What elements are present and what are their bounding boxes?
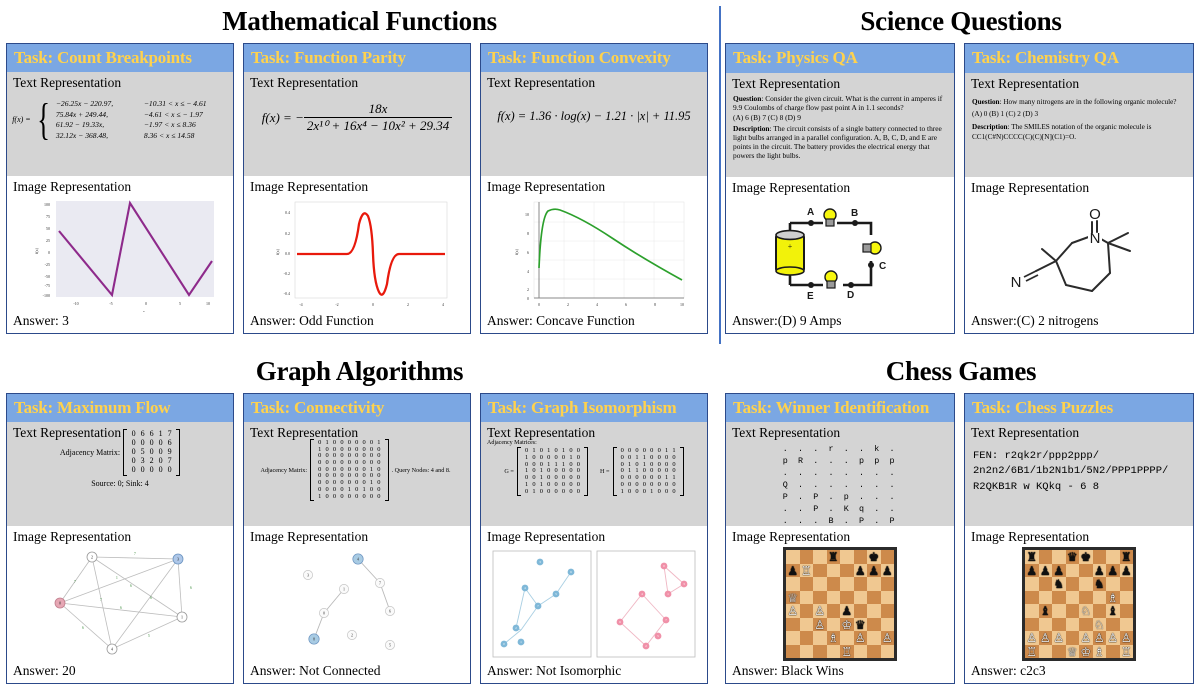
chess-piece: ♛	[1067, 551, 1078, 563]
svg-text:100: 100	[44, 202, 50, 207]
chess-square[interactable]: ♙	[813, 618, 827, 632]
chess-square[interactable]: ♟	[1052, 564, 1066, 578]
left-brace-icon: {	[37, 103, 50, 136]
chess-piece: ♔	[1080, 646, 1091, 658]
chess-piece: ♙	[1121, 632, 1132, 644]
chess-square[interactable]: ♙	[1039, 631, 1053, 645]
board-ascii-text: . . . r . . k . p R . . . p p p . . . . …	[726, 443, 954, 526]
chess-square[interactable]: ♛	[1066, 550, 1080, 564]
chess-square[interactable]	[840, 577, 854, 591]
svg-text:6: 6	[190, 586, 192, 590]
svg-text:-0.4: -0.4	[283, 291, 289, 296]
chess-piece: ♟	[787, 565, 798, 577]
card-maximum-flow[interactable]: Task: Maximum Flow Text Representation A…	[6, 393, 234, 684]
chess-square[interactable]: ♕	[786, 591, 800, 605]
chess-square[interactable]	[813, 631, 827, 645]
svg-text:0: 0	[59, 601, 61, 606]
card-winner-identification[interactable]: Task: Winner Identification Text Represe…	[725, 393, 955, 684]
image-representation-label: Image Representation	[244, 526, 470, 547]
matrix-cell: 0	[641, 489, 648, 496]
matrix-cell: 0	[138, 466, 147, 475]
chess-square[interactable]	[881, 577, 895, 591]
chess-square[interactable]: ♜	[1120, 550, 1134, 564]
svg-text:10: 10	[525, 212, 529, 217]
chess-square[interactable]: ♚	[867, 550, 881, 564]
matrix-cell: 0	[338, 494, 345, 501]
chess-square[interactable]: ♗	[827, 631, 841, 645]
chess-square[interactable]	[827, 604, 841, 618]
chess-square[interactable]	[786, 577, 800, 591]
connectivity-graph: 431 760 825	[244, 547, 470, 662]
chess-piece: ♙	[1040, 632, 1051, 644]
poster-grid: Mathematical Functions Task: Count Break…	[0, 0, 1203, 699]
chess-square[interactable]	[1106, 577, 1120, 591]
chess-piece: ♟	[1121, 565, 1132, 577]
svg-text:+: +	[788, 242, 793, 251]
chess-square[interactable]: ♙	[881, 631, 895, 645]
chess-square[interactable]: ♙	[1025, 631, 1039, 645]
chess-square[interactable]	[1052, 550, 1066, 564]
chess-square[interactable]	[1120, 577, 1134, 591]
chess-square[interactable]	[1106, 550, 1120, 564]
answer-text: Answer:(C) 2 nitrogens	[965, 312, 1193, 333]
card-count-breakpoints[interactable]: Task: Count Breakpoints Text Representat…	[6, 43, 234, 334]
section-graph-algorithms: Graph Algorithms Task: Maximum Flow Text…	[0, 350, 719, 699]
matrix-h-block: H = 000000110011000001010000011000000000…	[600, 447, 684, 496]
chess-square[interactable]	[1120, 618, 1134, 632]
svg-text:8: 8	[527, 231, 529, 236]
chess-square[interactable]: ♟	[854, 564, 868, 578]
matrix-cell: 0	[560, 489, 567, 496]
chess-square[interactable]	[1120, 591, 1134, 605]
chess-square[interactable]: ♙	[786, 604, 800, 618]
card-graph-isomorphism[interactable]: Task: Graph Isomorphism Text Representat…	[480, 393, 708, 684]
svg-text:6: 6	[82, 626, 84, 630]
image-representation-label: Image Representation	[7, 526, 233, 547]
section-mathematical-functions: Mathematical Functions Task: Count Break…	[0, 0, 719, 350]
chess-square[interactable]: ♗	[1093, 645, 1107, 659]
chess-square[interactable]	[1066, 618, 1080, 632]
chess-square[interactable]: ♜	[1025, 550, 1039, 564]
chess-square[interactable]	[840, 591, 854, 605]
text-representation-panel: Text Representation f(x) = − 18x 2x¹⁰ + …	[244, 72, 470, 176]
chess-square[interactable]	[867, 631, 881, 645]
svg-text:-5: -5	[109, 301, 112, 306]
chessboard-puzzle: ♜♛♚♜♟♟♟♟♟♟♞♞♗♝♘♝♘♙♙♙♙♙♙♙♖♕♔♗♖	[965, 547, 1193, 661]
chess-square[interactable]	[881, 550, 895, 564]
chess-square[interactable]	[1052, 618, 1066, 632]
svg-text:-4: -4	[299, 302, 302, 307]
chess-piece: ♖	[1121, 646, 1132, 658]
svg-text:6: 6	[527, 250, 529, 255]
chess-square[interactable]: ♟	[1039, 564, 1053, 578]
svg-text:2: 2	[527, 287, 529, 292]
matrix-cell: 0	[147, 466, 156, 475]
matrix-cell: 0	[353, 494, 360, 501]
answer-text: Answer: Not Connected	[244, 662, 470, 683]
molecule-diagram: O N N N	[965, 198, 1193, 312]
chess-square[interactable]: ♔	[840, 618, 854, 632]
chess-square[interactable]: ♙	[813, 604, 827, 618]
fen-text: FEN: r2qk2r/ppp2ppp/ 2n2n2/6B1/1b2N1b1/5…	[965, 443, 1193, 495]
svg-text:N: N	[1090, 230, 1101, 247]
chess-piece: ♗	[1094, 646, 1105, 658]
chess-square[interactable]: ♔	[1079, 645, 1093, 659]
chess-square[interactable]	[800, 618, 814, 632]
chess-square[interactable]: ♖	[800, 564, 814, 578]
chess-square[interactable]	[881, 618, 895, 632]
chess-square[interactable]	[786, 618, 800, 632]
chess-square[interactable]	[800, 645, 814, 659]
svg-text:0.4: 0.4	[285, 210, 290, 215]
circuit-label-e: E	[807, 291, 814, 302]
matrix-cell: 1	[648, 489, 655, 496]
text-representation-label: Text Representation	[726, 73, 954, 94]
chess-square[interactable]	[786, 631, 800, 645]
chart-parity: 0.4 0.2 0.0 -0.2 -0.4 -4 -2 0 2 4 f(x)	[244, 197, 470, 312]
qa-body: Question: Consider the given circuit. Wh…	[726, 94, 954, 160]
image-representation-panel: Image Representation	[965, 177, 1193, 333]
chess-piece: ♙	[1026, 632, 1037, 644]
circuit-label-c: C	[879, 261, 886, 272]
chess-piece: ♟	[1053, 565, 1064, 577]
chess-square[interactable]: ♙	[1052, 631, 1066, 645]
svg-text:4: 4	[596, 302, 598, 307]
card-function-convexity[interactable]: Task: Function Convexity Text Representa…	[480, 43, 708, 334]
chess-square[interactable]	[1039, 550, 1053, 564]
chess-piece: ♛	[855, 619, 866, 631]
svg-text:7: 7	[379, 581, 381, 586]
chess-square[interactable]	[786, 550, 800, 564]
piecewise-row: 75.84x + 249.44, −4.61 < x ≤ − 1.97	[56, 110, 228, 119]
chess-piece: ♙	[814, 619, 825, 631]
chess-square[interactable]: ♙	[1106, 631, 1120, 645]
chess-square[interactable]	[1025, 591, 1039, 605]
image-representation-panel: Image Representation	[726, 177, 954, 333]
chess-piece: ♟	[855, 565, 866, 577]
matrix-cell: 1	[530, 489, 537, 496]
matrix-cell: 1	[619, 489, 626, 496]
chess-piece: ♕	[1067, 646, 1078, 658]
answer-options: (A) 6 (B) 7 (C) 8 (D) 9	[733, 113, 947, 122]
svg-text:2: 2	[91, 555, 93, 560]
chess-square[interactable]	[1025, 618, 1039, 632]
chess-square[interactable]	[840, 631, 854, 645]
question-line: Question: Consider the given circuit. Wh…	[733, 94, 947, 112]
chess-square[interactable]: ♙	[854, 631, 868, 645]
section-title: Chess Games	[725, 356, 1197, 387]
svg-text:6: 6	[120, 606, 122, 610]
svg-text:75: 75	[46, 214, 50, 219]
chess-square[interactable]	[867, 591, 881, 605]
chess-square[interactable]	[1039, 645, 1053, 659]
matrix-cell: 0	[360, 494, 367, 501]
chess-square[interactable]: ♝	[1106, 604, 1120, 618]
chess-square[interactable]	[1079, 618, 1093, 632]
chess-square[interactable]: ♟	[867, 564, 881, 578]
chess-square[interactable]: ♝	[1039, 604, 1053, 618]
image-representation-label: Image Representation	[726, 526, 954, 547]
chess-square[interactable]	[813, 550, 827, 564]
chess-piece: ♟	[1040, 565, 1051, 577]
chess-piece: ♟	[1107, 565, 1118, 577]
chess-square[interactable]	[1093, 550, 1107, 564]
chess-piece: ♙	[882, 632, 893, 644]
chess-square[interactable]: ♗	[1106, 591, 1120, 605]
chess-square[interactable]	[1039, 618, 1053, 632]
chess-square[interactable]	[854, 577, 868, 591]
chess-square[interactable]	[1052, 645, 1066, 659]
chessboard: ♜♛♚♜♟♟♟♟♟♟♞♞♗♝♘♝♘♙♙♙♙♙♙♙♖♕♔♗♖	[1022, 547, 1136, 661]
chess-square[interactable]: ♖	[1025, 645, 1039, 659]
chess-square[interactable]	[1025, 604, 1039, 618]
svg-text:7: 7	[100, 598, 102, 602]
card-physics-qa[interactable]: Task: Physics QA Text Representation Que…	[725, 43, 955, 334]
matrix-cell: 0	[633, 489, 640, 496]
piecewise-formula: f(x) = { −26.25x − 220.97, −10.31 < x ≤ …	[7, 99, 233, 140]
chess-square[interactable]	[1120, 604, 1134, 618]
question-label: Question	[733, 94, 761, 103]
chess-square[interactable]	[800, 591, 814, 605]
chess-square[interactable]	[1079, 564, 1093, 578]
svg-text:8: 8	[654, 302, 656, 307]
card-connectivity[interactable]: Task: Connectivity Text Representation A…	[243, 393, 471, 684]
chess-piece: ♟	[841, 605, 852, 617]
matrix-row: 100000000	[316, 494, 383, 501]
circuit-diagram: + _	[726, 198, 954, 312]
plain-formula: f(x) = 1.36 · log(x) − 1.21 · |x| + 11.9…	[481, 109, 707, 124]
matrix-cell: 0	[552, 489, 559, 496]
card-chemistry-qa[interactable]: Task: Chemistry QA Text Representation Q…	[964, 43, 1194, 334]
chess-square[interactable]: ♕	[1066, 645, 1080, 659]
chessboard: ♜♚♟♖♟♟♟♕♙♙♟♙♔♛♗♙♙♖	[783, 547, 897, 661]
chess-square[interactable]	[1079, 577, 1093, 591]
chess-square[interactable]	[1066, 564, 1080, 578]
answer-text: Answer: c2c3	[965, 662, 1193, 683]
svg-text:-10: -10	[73, 301, 78, 306]
adjacency-matrix: 0661700006050090320700000	[123, 429, 180, 476]
image-representation-label: Image Representation	[481, 176, 707, 197]
matrix-cell: 0	[626, 489, 633, 496]
chess-square[interactable]: ♘	[1079, 604, 1093, 618]
chess-square[interactable]	[854, 604, 868, 618]
chess-square[interactable]	[1093, 591, 1107, 605]
svg-text:6: 6	[150, 596, 152, 600]
chess-square[interactable]: ♙	[1079, 631, 1093, 645]
chess-square[interactable]: ♟	[1025, 564, 1039, 578]
chess-piece: ♖	[1026, 646, 1037, 658]
chess-square[interactable]: ♟	[786, 564, 800, 578]
card-title: Task: Function Parity	[244, 44, 470, 72]
chess-square[interactable]	[827, 618, 841, 632]
chess-square[interactable]: ♞	[1093, 577, 1107, 591]
chess-square[interactable]	[867, 577, 881, 591]
chess-square[interactable]	[1066, 631, 1080, 645]
answer-text: Answer: Not Isomorphic	[481, 662, 707, 683]
svg-text:4: 4	[527, 269, 529, 274]
chess-square[interactable]	[800, 631, 814, 645]
matrix-cell: 0	[538, 489, 545, 496]
svg-text:8: 8	[313, 637, 315, 642]
convexity-line-chart: 10 8 6 4 2 0 0 2 4 6 8 10 f(x)	[492, 197, 697, 312]
card-chess-puzzles[interactable]: Task: Chess Puzzles Text Representation …	[964, 393, 1194, 684]
matrix-g-block: G = 010101001000001000011100101000000010…	[504, 447, 588, 496]
chess-square[interactable]	[813, 645, 827, 659]
text-representation-panel: Text Representation FEN: r2qk2r/ppp2ppp/…	[965, 422, 1193, 526]
source-sink-text: Source: 0; Sink: 4	[7, 479, 233, 488]
chess-square[interactable]: ♜	[827, 550, 841, 564]
chess-square[interactable]: ♘	[1093, 618, 1107, 632]
chess-square[interactable]	[1052, 591, 1066, 605]
chess-square[interactable]	[881, 604, 895, 618]
chess-square[interactable]	[800, 604, 814, 618]
svg-text:0: 0	[538, 302, 540, 307]
answer-text: Answer: Concave Function	[481, 312, 707, 333]
section-chess-games: Chess Games Task: Winner Identification …	[719, 350, 1203, 699]
matrix-h-label: H =	[600, 468, 610, 475]
chess-piece: ♕	[787, 592, 798, 604]
text-representation-label: Text Representation	[244, 72, 470, 93]
chess-square[interactable]	[854, 645, 868, 659]
chess-piece: ♜	[828, 551, 839, 563]
chess-square[interactable]	[1039, 577, 1053, 591]
chess-piece: ♔	[841, 619, 852, 631]
text-representation-panel: Text Representation f(x) = { −26.25x − 2…	[7, 72, 233, 176]
answer-text: Answer: Black Wins	[726, 662, 954, 683]
formula-lhs: f(x) =	[12, 115, 31, 124]
matrix-cell: 0	[670, 489, 677, 496]
matrix-cell: 0	[523, 489, 530, 496]
atom-label-o: O	[1089, 206, 1101, 223]
chess-square[interactable]	[1106, 618, 1120, 632]
chess-piece: ♟	[868, 565, 879, 577]
chess-square[interactable]: ♟	[1093, 564, 1107, 578]
chess-square[interactable]	[881, 591, 895, 605]
chess-square[interactable]	[1066, 591, 1080, 605]
chess-square[interactable]	[827, 645, 841, 659]
isomorphism-graphs: 365 472 10	[481, 547, 707, 661]
card-title: Task: Winner Identification	[726, 394, 954, 423]
chess-square[interactable]	[786, 645, 800, 659]
chess-square[interactable]	[1039, 591, 1053, 605]
text-representation-label: Text Representation	[481, 72, 707, 93]
card-function-parity[interactable]: Task: Function Parity Text Representatio…	[243, 43, 471, 334]
chess-square[interactable]: ♖	[1120, 645, 1134, 659]
chess-square[interactable]: ♛	[854, 618, 868, 632]
chess-square[interactable]	[800, 550, 814, 564]
chess-square[interactable]: ♙	[1093, 631, 1107, 645]
flow-graph: 776 761 666 5	[7, 547, 233, 662]
chess-square[interactable]: ♟	[840, 604, 854, 618]
svg-text:2: 2	[351, 633, 353, 638]
matrix-cell: 0	[129, 466, 138, 475]
chess-piece: ♚	[868, 551, 879, 563]
chess-square[interactable]	[867, 618, 881, 632]
chess-piece: ♞	[1053, 578, 1064, 590]
chess-square[interactable]	[1106, 645, 1120, 659]
svg-text:1: 1	[181, 615, 183, 620]
chess-square[interactable]	[1066, 577, 1080, 591]
svg-text:2: 2	[567, 302, 569, 307]
svg-text:6: 6	[130, 584, 132, 588]
chess-square[interactable]	[867, 604, 881, 618]
svg-text:-50: -50	[44, 274, 49, 279]
svg-text:-2: -2	[335, 302, 338, 307]
chess-square[interactable]: ♟	[1106, 564, 1120, 578]
chess-square[interactable]	[813, 591, 827, 605]
chess-piece: ♙	[787, 605, 798, 617]
chess-square[interactable]	[854, 591, 868, 605]
image-representation-label: Image Representation	[726, 177, 954, 198]
svg-text:3: 3	[307, 573, 309, 578]
image-representation-label: Image Representation	[965, 526, 1193, 547]
chess-square[interactable]	[1093, 604, 1107, 618]
chess-square[interactable]: ♞	[1052, 577, 1066, 591]
vertical-divider	[719, 6, 721, 344]
description-label: Description	[972, 123, 1008, 131]
chess-square[interactable]	[813, 564, 827, 578]
chess-square[interactable]	[800, 577, 814, 591]
answer-options: (A) 0 (B) 1 (C) 2 (D) 3	[972, 110, 1186, 120]
chess-square[interactable]	[813, 577, 827, 591]
chess-square[interactable]: ♟	[1120, 564, 1134, 578]
chess-square[interactable]	[840, 564, 854, 578]
chess-piece: ♖	[801, 565, 812, 577]
chess-square[interactable]	[1025, 577, 1039, 591]
chess-square[interactable]: ♚	[1079, 550, 1093, 564]
matrix-cell: 0	[323, 494, 330, 501]
chess-piece: ♜	[1026, 551, 1037, 563]
flow-network-svg: 776 761 666 5	[30, 547, 210, 662]
chess-piece: ♙	[1094, 632, 1105, 644]
question-text: : Consider the given circuit. What is th…	[733, 94, 942, 112]
section-title: Science Questions	[725, 6, 1197, 37]
question-text: : How many nitrogens are in the followin…	[1000, 98, 1177, 106]
matrix-cell: 0	[331, 494, 338, 501]
svg-text:-100: -100	[42, 293, 49, 298]
chess-square[interactable]	[881, 645, 895, 659]
description-label: Description	[733, 124, 770, 133]
card-title: Task: Maximum Flow	[7, 394, 233, 422]
chess-square[interactable]	[840, 550, 854, 564]
chess-square[interactable]	[827, 564, 841, 578]
chess-square[interactable]	[1066, 604, 1080, 618]
chess-square[interactable]	[1052, 604, 1066, 618]
chess-square[interactable]	[1079, 591, 1093, 605]
chess-square[interactable]: ♙	[1120, 631, 1134, 645]
chess-square[interactable]: ♟	[881, 564, 895, 578]
matrix-cell: 0	[545, 489, 552, 496]
graph-h-svg: 031 467 52	[596, 550, 696, 658]
text-representation-panel: Text Representation Adjacency Matrix: 06…	[7, 422, 233, 526]
chess-square[interactable]	[827, 577, 841, 591]
image-representation-panel: Image Representation 0.4 0.2 0.0 -0.2 -0…	[244, 176, 470, 333]
answer-text: Answer: 20	[7, 662, 233, 683]
svg-text:10: 10	[680, 302, 684, 307]
chess-piece: ♘	[1094, 619, 1105, 631]
chess-square[interactable]	[854, 550, 868, 564]
image-representation-panel: Image Representation	[244, 526, 470, 683]
chess-square[interactable]: ♖	[840, 645, 854, 659]
matrix-row: 10001000	[619, 489, 678, 496]
chess-piece: ♜	[1121, 551, 1132, 563]
chess-square[interactable]	[827, 591, 841, 605]
question-line: Question: How many nitrogens are in the …	[972, 98, 1186, 108]
chess-square[interactable]	[867, 645, 881, 659]
image-representation-panel: Image Representation ♜♛♚♜♟♟♟♟♟♟♞♞♗♝♘♝♘♙♙…	[965, 526, 1193, 682]
molecule-structure-svg: O N N N	[984, 199, 1174, 311]
svg-text:7: 7	[134, 552, 136, 556]
